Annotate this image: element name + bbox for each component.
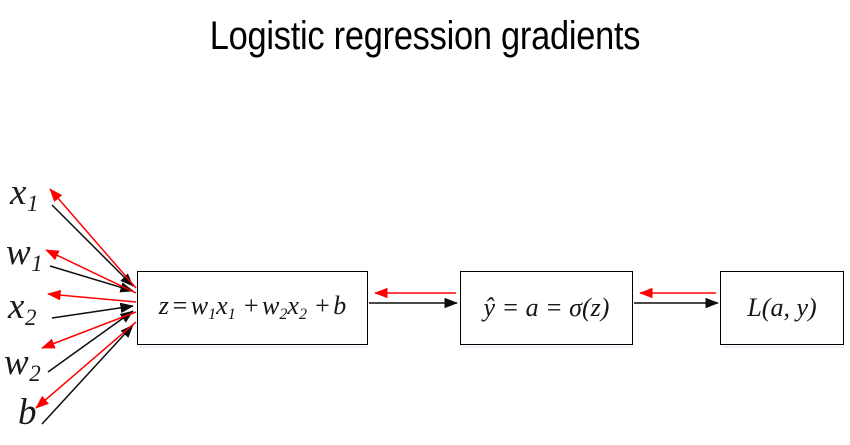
slide-canvas: Logistic regression gradients x1 w1 x2 w… [0, 0, 850, 445]
input-label-x2: x2 [8, 288, 36, 330]
input-label-x1: x1 [10, 174, 38, 216]
edge-w1-to-z [50, 266, 133, 291]
node-z[interactable]: z = w1x1 + w2x2 + b [137, 271, 368, 345]
connector-z-yhat [369, 293, 457, 303]
edge-w2-to-z [48, 311, 133, 372]
node-z-underglow [140, 346, 368, 348]
grad-edge-z-to-b [36, 322, 136, 408]
backward-edges-inputs [36, 189, 136, 408]
node-yhat-formula: ŷ = a = σ(z) [484, 295, 610, 321]
input-label-w1: w1 [6, 234, 43, 276]
node-yhat-underglow [463, 346, 633, 348]
grad-edge-z-to-w2 [42, 312, 136, 348]
input-base-b: b [18, 392, 37, 433]
input-sub-x2: 2 [25, 305, 36, 330]
node-loss[interactable]: L(a, y) [720, 271, 844, 345]
input-sub-w2: 2 [29, 361, 40, 386]
node-loss-underglow [723, 346, 844, 348]
input-base-x2: x [8, 286, 24, 327]
page-title: Logistic regression gradients [60, 14, 791, 59]
node-loss-formula: L(a, y) [747, 295, 816, 321]
grad-edge-z-to-x1 [50, 189, 136, 288]
arrow-overlay [0, 0, 850, 445]
node-z-formula: z = w1x1 + w2x2 + b [159, 293, 346, 323]
edge-x1-to-z [52, 205, 133, 286]
input-label-b: b [18, 394, 37, 436]
input-sub-x1: 1 [27, 191, 38, 216]
input-label-w2: w2 [4, 344, 41, 386]
input-sub-w1: 1 [31, 251, 42, 276]
input-base-w2: w [4, 342, 29, 383]
edge-x2-to-z [52, 306, 133, 318]
edge-b-to-z [42, 325, 133, 424]
input-base-x1: x [10, 172, 26, 213]
connector-yhat-loss [634, 293, 718, 303]
forward-edges-inputs [42, 205, 133, 424]
grad-edge-z-to-w1 [46, 250, 136, 293]
node-yhat[interactable]: ŷ = a = σ(z) [460, 271, 633, 345]
grad-edge-z-to-x2 [48, 294, 136, 302]
input-base-w1: w [6, 232, 31, 273]
